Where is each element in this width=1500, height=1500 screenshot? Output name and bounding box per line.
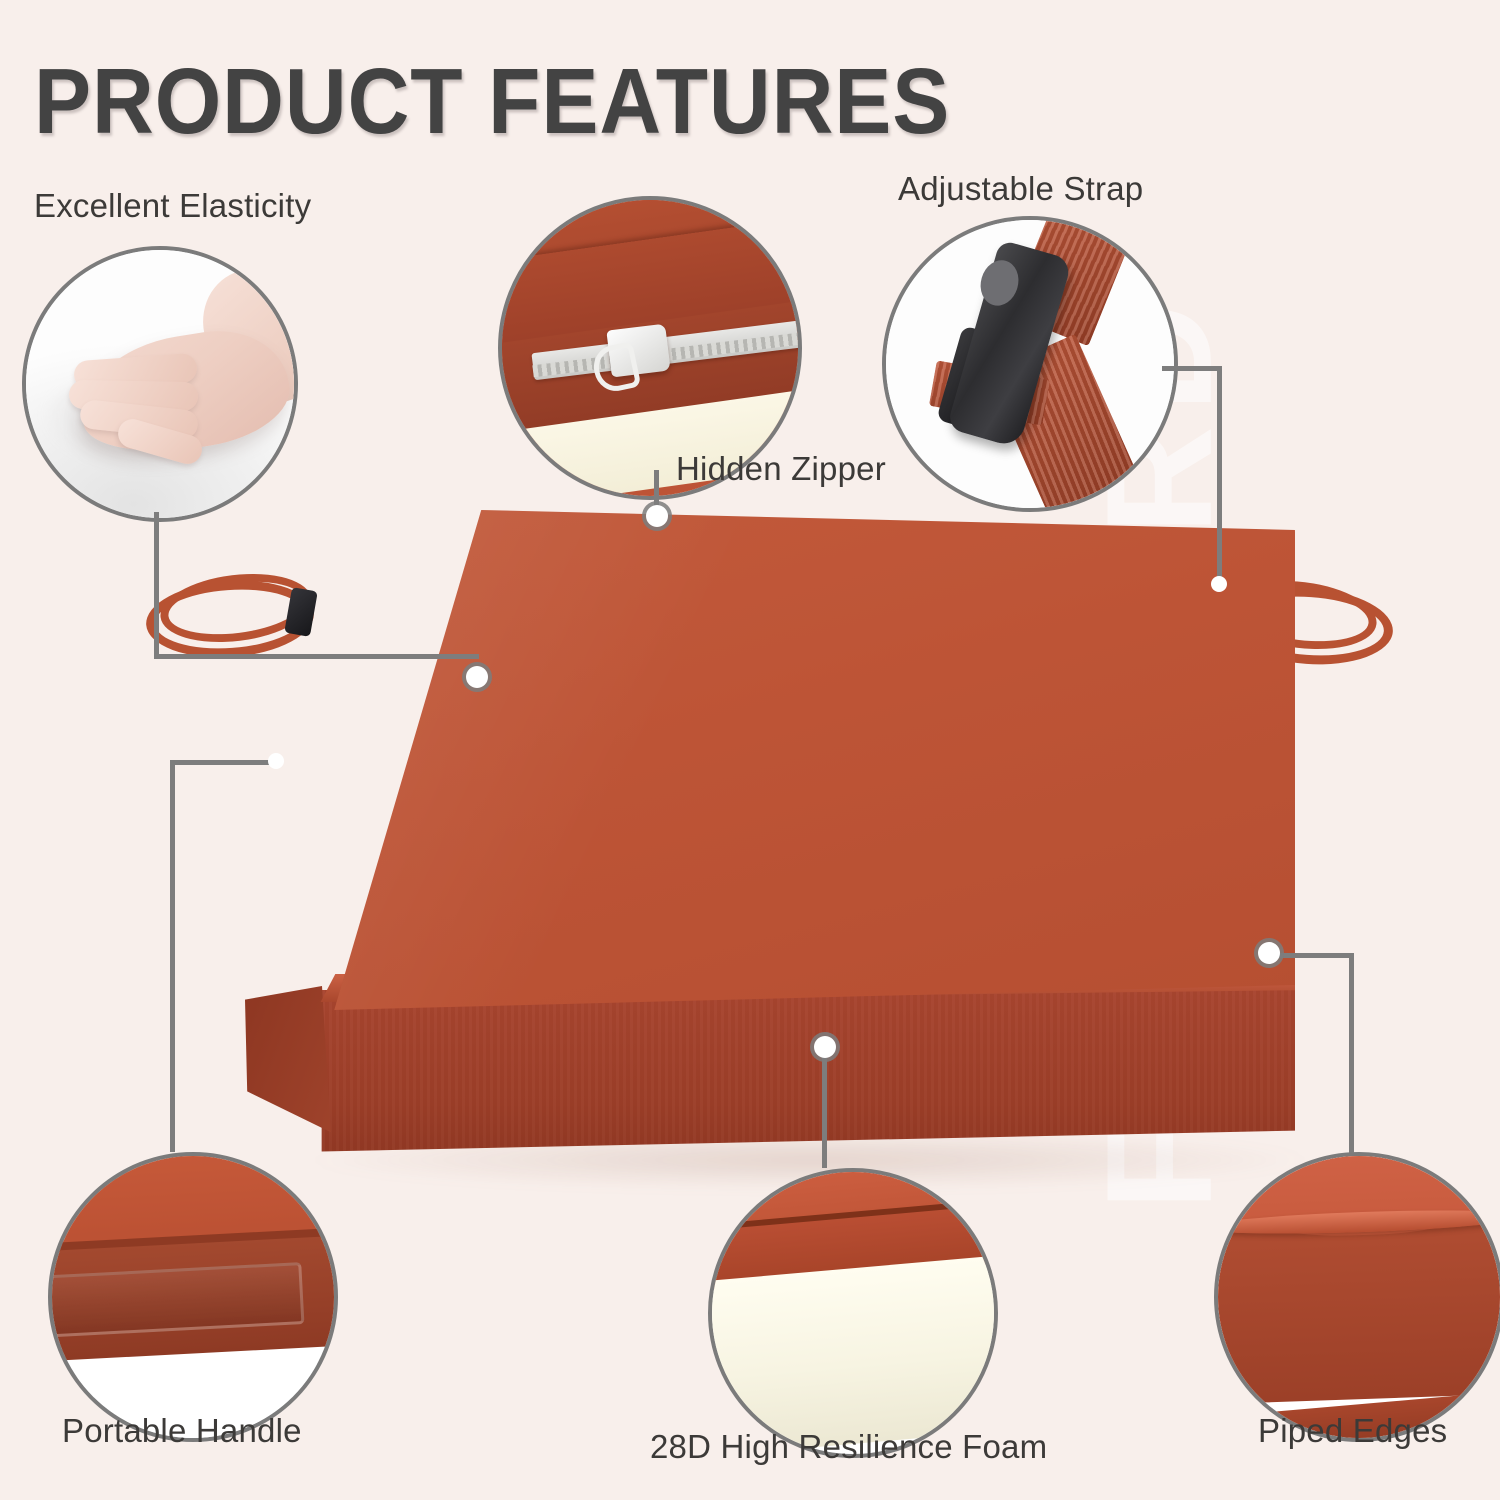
foam-hand-photo [26,250,294,518]
connector-elasticity-h [154,654,479,659]
strap-buckle-photo [886,220,1174,508]
page-title: PRODUCT FEATURES [34,48,950,155]
label-high-resilience-foam: 28D High Resilience Foam [650,1428,1047,1466]
foam-cross-section-photo [712,1172,994,1454]
connector-piped-v [1349,953,1354,1153]
cushion-top-panel [245,510,1295,1010]
callout-dot-handle [268,753,284,769]
label-portable-handle: Portable Handle [62,1412,302,1450]
connector-strap-h [1162,366,1222,371]
detail-bubble-portable-handle [48,1152,338,1442]
callout-dot-piped-edges [1258,942,1280,964]
connector-handle-h [170,760,275,765]
detail-bubble-excellent-elasticity [22,246,298,522]
connector-handle-v [170,760,175,1152]
connector-piped-h [1270,953,1354,958]
cushion-sheen [245,510,1295,1010]
connector-foam-v [822,1048,827,1168]
detail-bubble-adjustable-strap [882,216,1178,512]
piped-edge-photo [1218,1156,1500,1438]
label-hidden-zipper: Hidden Zipper [676,450,886,488]
label-excellent-elasticity: Excellent Elasticity [34,187,311,225]
connector-strap-v [1217,366,1222,582]
cushion-strap-loop-left [146,575,316,655]
handle-photo [52,1156,334,1438]
detail-bubble-high-resilience-foam [708,1168,998,1458]
callout-dot-elasticity [466,666,488,688]
product-cushion-image [150,490,1340,1190]
callout-dot-strap [1211,576,1227,592]
connector-elasticity-v [154,512,159,657]
detail-bubble-piped-edges [1214,1152,1500,1442]
label-adjustable-strap: Adjustable Strap [898,170,1143,208]
callout-dot-zipper [646,505,668,527]
label-piped-edges: Piped Edges [1258,1412,1447,1450]
infographic-canvas: FAVOYARD PRODUCT FEATURES Excellent Elas… [0,0,1500,1500]
callout-dot-foam [814,1036,836,1058]
corner-side-panel [1214,1218,1500,1404]
